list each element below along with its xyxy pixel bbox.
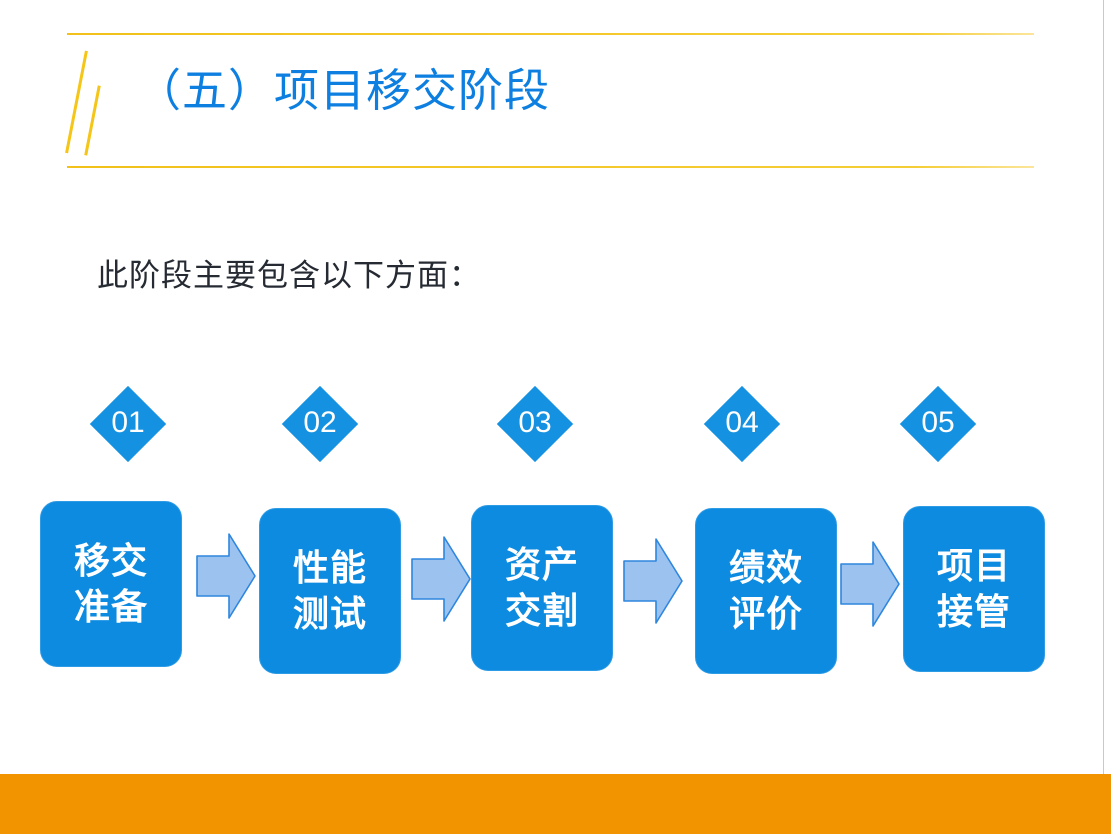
flow-arrow-4-to-5 <box>840 540 900 628</box>
flow-arrow-2-to-3 <box>411 535 471 623</box>
step-box-text-01: 移交 准备 <box>74 538 148 630</box>
step-badge-label-03: 03 <box>490 408 580 438</box>
step-box-line2-05: 接管 <box>937 589 1011 635</box>
step-badge-label-01: 01 <box>83 408 173 438</box>
flow-arrow-1-to-2 <box>196 532 256 620</box>
step-box-line1-05: 项目 <box>937 543 1011 589</box>
step-badge-label-05: 05 <box>893 408 983 438</box>
step-box-05[interactable]: 项目 接管 <box>903 506 1045 672</box>
step-box-text-04: 绩效 评价 <box>729 545 803 637</box>
step-box-line2-01: 准备 <box>74 584 148 630</box>
footer-band <box>0 774 1111 834</box>
step-box-line1-02: 性能 <box>293 545 367 591</box>
step-box-01[interactable]: 移交 准备 <box>40 501 182 667</box>
step-box-03[interactable]: 资产 交割 <box>471 505 613 671</box>
step-box-line2-02: 测试 <box>293 591 367 637</box>
step-box-text-03: 资产 交割 <box>505 542 579 634</box>
step-box-line1-03: 资产 <box>505 542 579 588</box>
step-box-text-02: 性能 测试 <box>293 545 367 637</box>
step-box-line1-04: 绩效 <box>729 545 803 591</box>
flow-arrow-3-to-4 <box>623 537 683 625</box>
step-box-04[interactable]: 绩效 评价 <box>695 508 837 674</box>
step-box-02[interactable]: 性能 测试 <box>259 508 401 674</box>
step-box-line2-04: 评价 <box>729 591 803 637</box>
slide-canvas: （五）项目移交阶段 此阶段主要包含以下方面： 01 02 03 04 05 移交… <box>0 0 1111 834</box>
step-box-line2-03: 交割 <box>505 588 579 634</box>
step-box-text-05: 项目 接管 <box>937 543 1011 635</box>
step-box-line1-01: 移交 <box>74 538 148 584</box>
step-badge-label-04: 04 <box>697 408 787 438</box>
process-flow-diagram: 01 02 03 04 05 移交 准备 性能 测试 资产 交割 <box>0 0 1111 834</box>
step-badge-label-02: 02 <box>275 408 365 438</box>
